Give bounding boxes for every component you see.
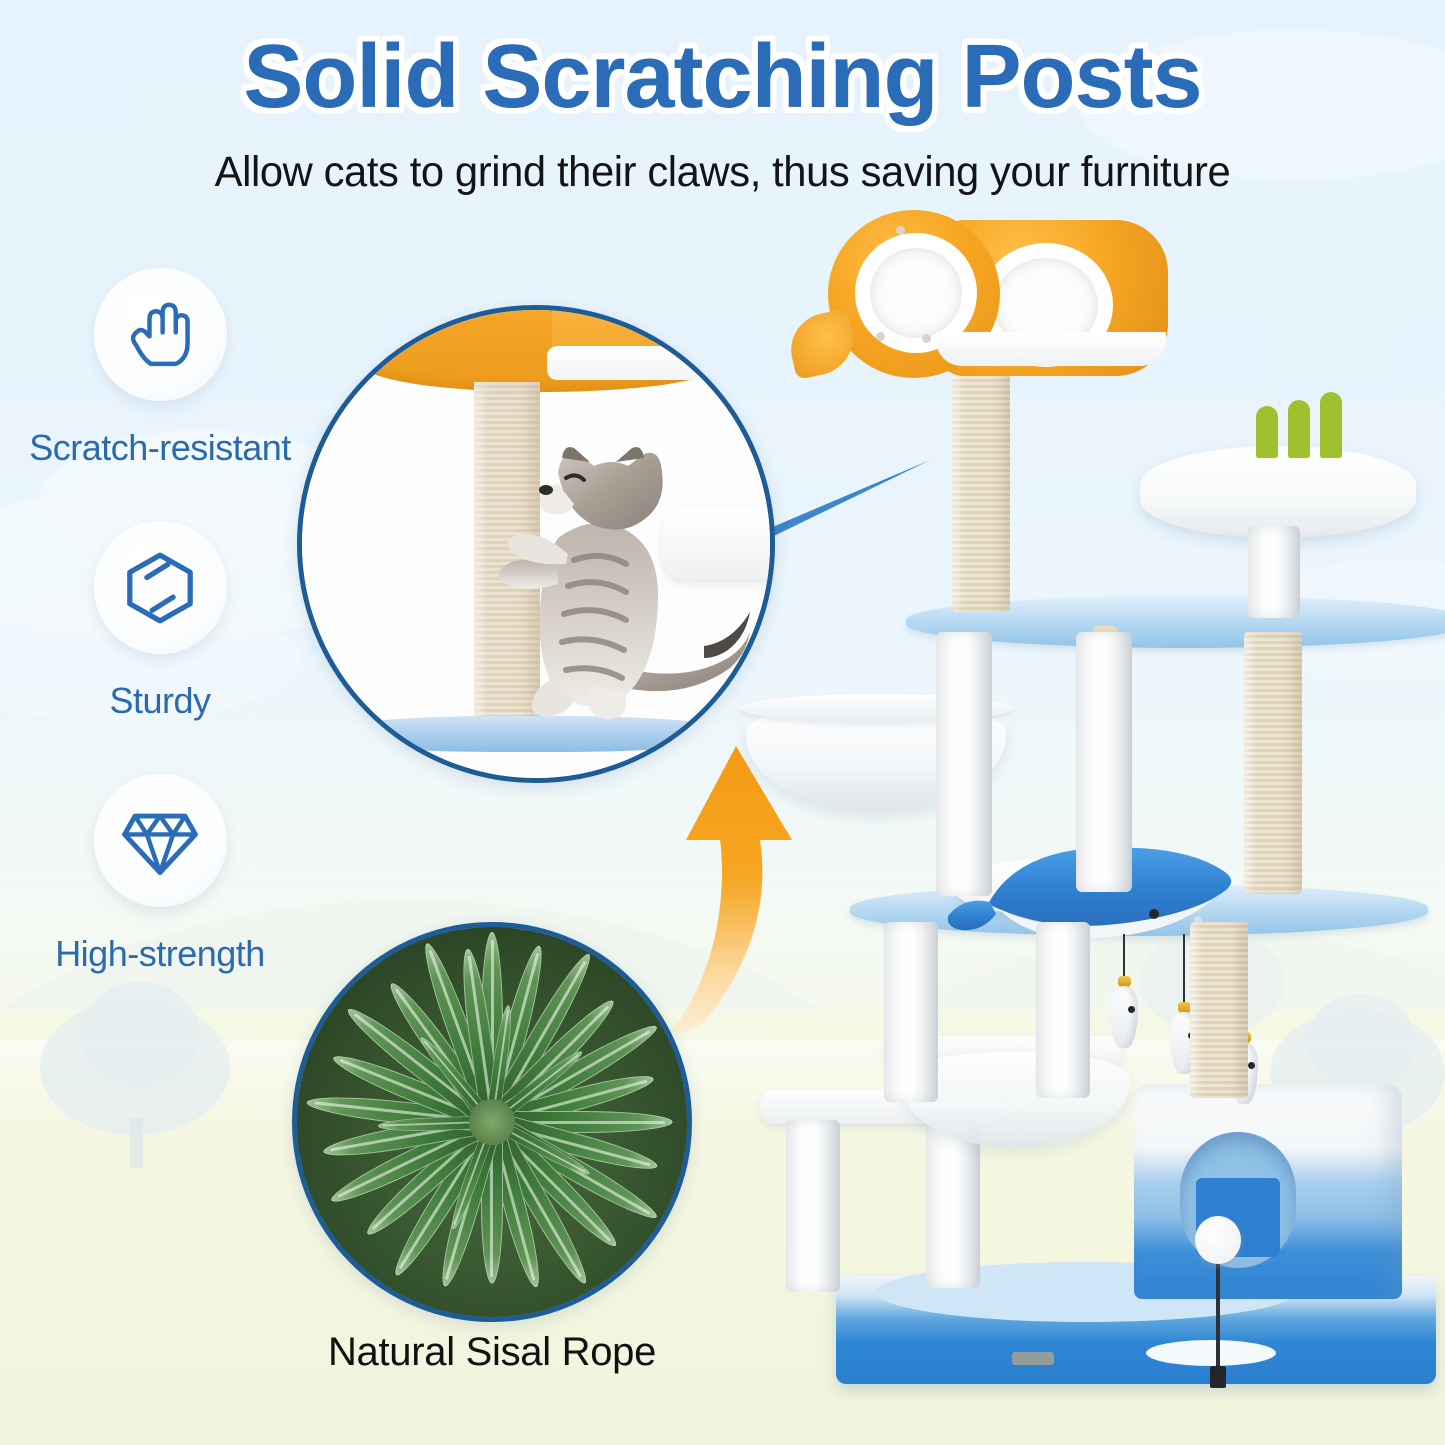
feature-label: Scratch-resistant (20, 427, 300, 469)
infographic-canvas: Solid Scratching Posts Allow cats to gri… (0, 0, 1445, 1445)
orange-fish-tunnel-top (818, 210, 1178, 392)
fish-string (1123, 934, 1125, 980)
screw-cap (896, 226, 905, 235)
green-seaweed-decor (1256, 406, 1278, 458)
feature-icon-badge (94, 774, 227, 907)
feature-icon-badge (94, 268, 227, 401)
fish-body (1110, 986, 1138, 1048)
blue-condo-house (1134, 1084, 1402, 1299)
plush-post (926, 1120, 980, 1288)
plush-post (1036, 922, 1090, 1098)
cat-tree-product (700, 196, 1445, 1445)
plush-post (1076, 632, 1132, 892)
page-subtitle: Allow cats to grind their claws, thus sa… (22, 148, 1424, 197)
hexagon-icon (118, 546, 202, 630)
plush-post (884, 922, 938, 1102)
feature-label: High-strength (20, 933, 300, 975)
toy-rod (1216, 1250, 1220, 1382)
sisal-scratching-post (1190, 922, 1248, 1098)
sisal-scratching-post-main (952, 364, 1010, 612)
fish-tail-fin (784, 308, 859, 380)
toy-ball (1195, 1216, 1241, 1264)
feature-icon-badge (94, 521, 227, 654)
fish-eye (1128, 1006, 1135, 1013)
fish-string (1183, 934, 1185, 1006)
diamond-icon (118, 799, 202, 883)
fish-eye (1248, 1062, 1255, 1069)
plush-post (1248, 526, 1300, 618)
feature-item-sturdy: Sturdy (20, 521, 300, 722)
spring-ball-toy (1188, 1206, 1248, 1388)
green-seaweed-decor (1288, 400, 1310, 458)
green-seaweed-decor (1320, 392, 1342, 458)
sisal-caption: Natural Sisal Rope (252, 1330, 732, 1375)
toy-base (1210, 1366, 1226, 1388)
feature-list: Scratch-resistant Sturdy (20, 268, 300, 1027)
sisal-scratching-post (1244, 632, 1302, 894)
plush-post (786, 1120, 840, 1292)
feature-label: Sturdy (20, 680, 300, 722)
paw-hand-icon (118, 293, 202, 377)
background-tree (40, 1000, 240, 1180)
hanging-fish-toy (1104, 934, 1144, 1094)
plush-post (936, 632, 992, 896)
tunnel-white-base (936, 332, 1166, 366)
sisal-plant-scene (297, 927, 687, 1317)
feature-item-scratch-resistant: Scratch-resistant (20, 268, 300, 469)
feature-item-high-strength: High-strength (20, 774, 300, 975)
page-title: Solid Scratching Posts (0, 26, 1445, 129)
base-logo-tag (1012, 1352, 1054, 1365)
screw-cap (922, 334, 931, 343)
tunnel-opening-left (870, 248, 962, 338)
white-cushion-perch (1140, 446, 1416, 538)
screw-cap (876, 332, 885, 341)
inset-sisal-plant (292, 922, 692, 1322)
